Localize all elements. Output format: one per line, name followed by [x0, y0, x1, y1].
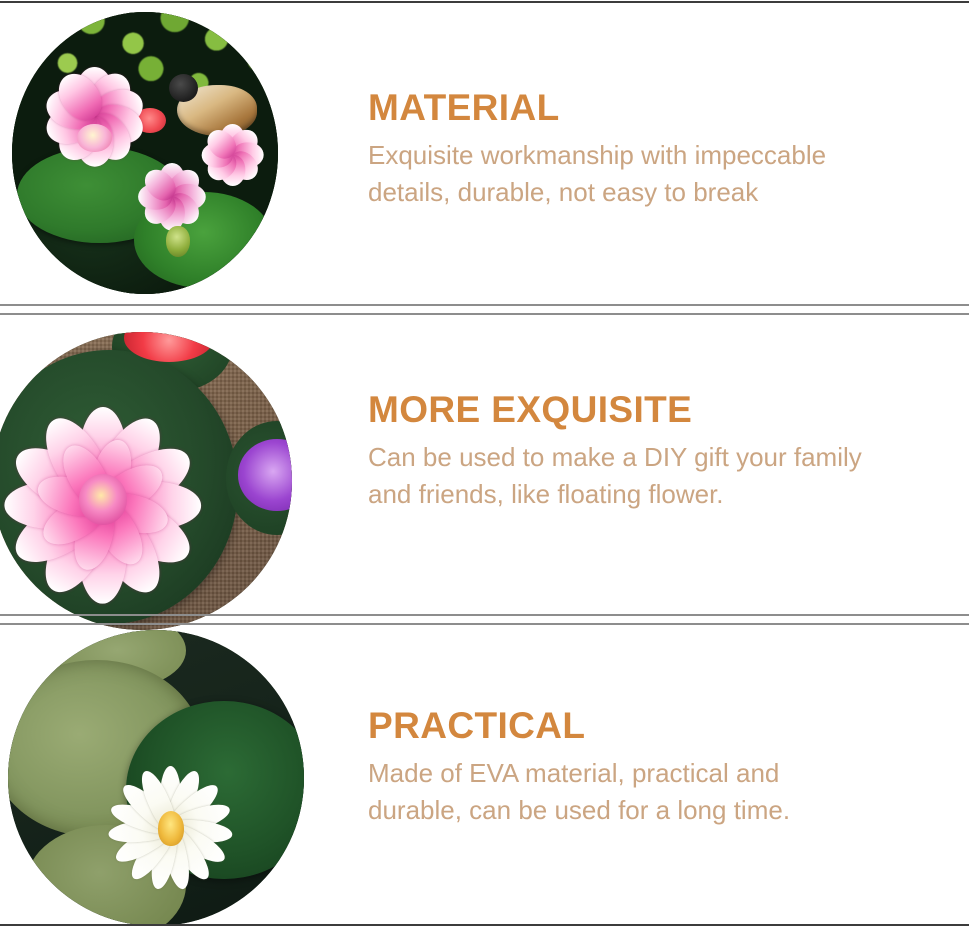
feature-title: MATERIAL: [368, 88, 868, 128]
feature-text-more-exquisite: MORE EXQUISITE Can be used to make a DIY…: [368, 390, 868, 513]
section-divider-2: [0, 614, 969, 628]
burlap-lotus-scene: [0, 332, 292, 630]
feature-image-material: [12, 12, 278, 294]
white-water-lily: [106, 766, 236, 890]
lotus-center: [79, 474, 127, 525]
pond-scene: [12, 12, 278, 294]
feature-row-material: MATERIAL Exquisite workmanship with impe…: [0, 0, 969, 304]
infographic-page: MATERIAL Exquisite workmanship with impe…: [0, 0, 969, 933]
feature-image-practical: [8, 630, 304, 926]
divider-rule-lower: [0, 623, 969, 625]
feature-description: Made of EVA material, practical and dura…: [368, 755, 878, 829]
feature-row-more-exquisite: MORE EXQUISITE Can be used to make a DIY…: [0, 318, 969, 614]
bottom-frame-rule: [0, 924, 969, 926]
divider-rule-lower: [0, 313, 969, 315]
lotus-center: [77, 124, 111, 153]
section-divider-1: [0, 304, 969, 318]
feature-description: Can be used to make a DIY gift your fami…: [368, 439, 868, 513]
lily-center: [158, 811, 184, 846]
feature-description: Exquisite workmanship with impeccable de…: [368, 137, 868, 211]
feature-text-practical: PRACTICAL Made of EVA material, practica…: [368, 706, 878, 829]
feature-text-material: MATERIAL Exquisite workmanship with impe…: [368, 88, 868, 211]
pink-lotus-large: [23, 91, 167, 187]
white-lily-scene: [8, 630, 304, 926]
pink-lotus-main: [4, 404, 202, 601]
feature-image-more-exquisite: [0, 332, 292, 630]
feature-title: MORE EXQUISITE: [368, 390, 868, 430]
feature-row-practical: PRACTICAL Made of EVA material, practica…: [0, 628, 969, 924]
divider-rule-upper: [0, 304, 969, 306]
feature-title: PRACTICAL: [368, 706, 878, 746]
divider-rule-upper: [0, 614, 969, 616]
